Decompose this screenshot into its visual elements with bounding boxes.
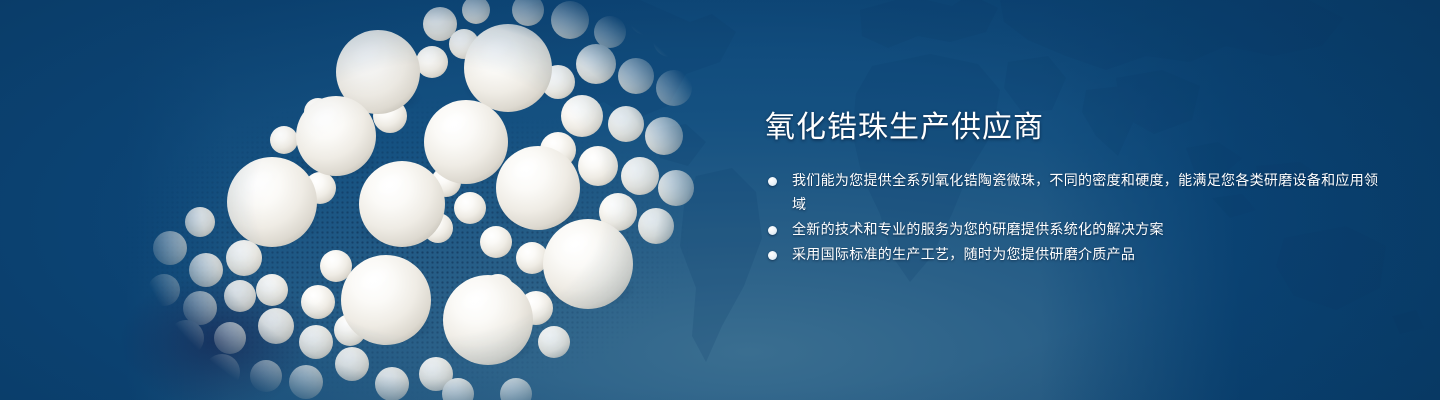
banner-bullet-list: 我们能为您提供全系列氧化锆陶瓷微珠，不同的密度和硬度，能满足您各类研磨设备和应用… — [765, 169, 1385, 267]
bullet-text-2: 全新的技术和专业的服务为您的研磨提供系统化的解决方案 — [792, 218, 1385, 242]
bullet-item-2: 全新的技术和专业的服务为您的研磨提供系统化的解决方案 — [765, 218, 1385, 242]
bullet-item-3: 采用国际标准的生产工艺，随时为您提供研磨介质产品 — [765, 243, 1385, 267]
bullet-item-1: 我们能为您提供全系列氧化锆陶瓷微珠，不同的密度和硬度，能满足您各类研磨设备和应用… — [765, 169, 1385, 217]
banner-copy: 氧化锆珠生产供应商 我们能为您提供全系列氧化锆陶瓷微珠，不同的密度和硬度，能满足… — [765, 108, 1385, 268]
bullet-dot-icon — [768, 251, 777, 260]
hero-banner: 氧化锆珠生产供应商 我们能为您提供全系列氧化锆陶瓷微珠，不同的密度和硬度，能满足… — [0, 0, 1440, 400]
bullet-text-1: 我们能为您提供全系列氧化锆陶瓷微珠，不同的密度和硬度，能满足您各类研磨设备和应用… — [792, 169, 1385, 217]
bullet-dot-icon — [768, 177, 777, 186]
bullet-text-3: 采用国际标准的生产工艺，随时为您提供研磨介质产品 — [792, 243, 1385, 267]
banner-title: 氧化锆珠生产供应商 — [765, 108, 1385, 148]
bullet-dot-icon — [768, 226, 777, 235]
